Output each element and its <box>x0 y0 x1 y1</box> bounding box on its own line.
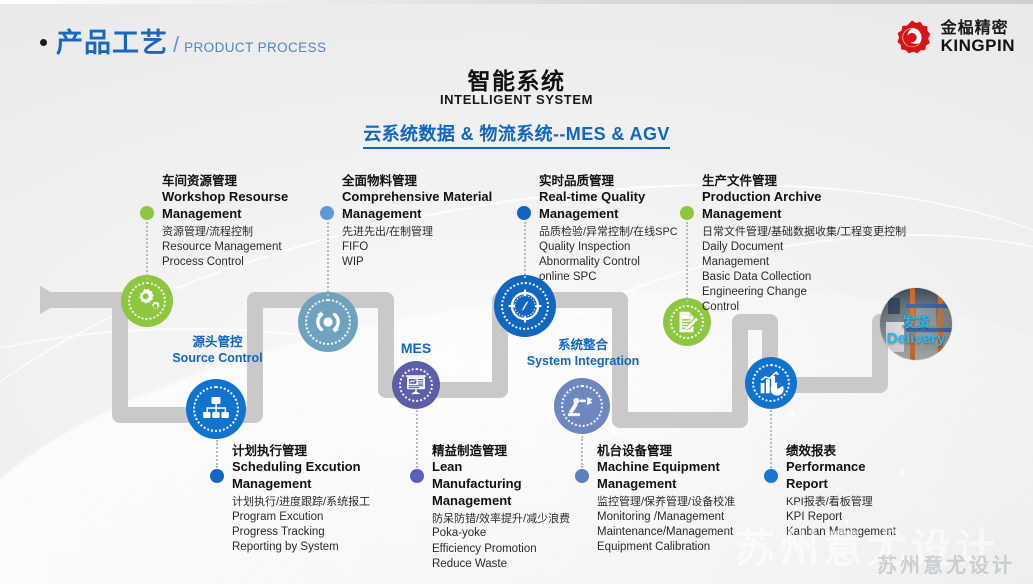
label-title-en-1: Performance <box>786 459 896 476</box>
label-desc-line: Basic Data Collection <box>702 270 906 285</box>
label-title-en-1: Comprehensive Material <box>342 189 492 206</box>
label-desc-line: online SPC <box>539 270 678 285</box>
label-title: 生产文件管理 Production Archive Management <box>702 173 906 223</box>
delivery-caption-cn: 发货 <box>880 314 952 330</box>
label-desc-cn: 计划执行/进度跟踪/系统报工 <box>232 495 370 510</box>
label-title: 精益制造管理 Lean Manufacturing Management <box>432 443 570 510</box>
label-title-en-2: Management <box>232 476 370 493</box>
label-bullet-icon <box>410 469 424 483</box>
mid-caption-system-integration: 系统整合 System Integration <box>508 338 658 369</box>
refresh-cycle-icon <box>311 305 345 339</box>
label-title-en-1: Lean <box>432 459 570 476</box>
label-machine-equipment-management[interactable]: 机台设备管理 Machine Equipment Management 监控管理… <box>575 443 735 555</box>
label-title-en-1: Workshop Resourse <box>162 189 288 206</box>
label-desc-cn: KPI报表/看板管理 <box>786 495 896 510</box>
mid-caption-en: Source Control <box>150 351 285 367</box>
label-title-en-2: Management <box>597 476 735 493</box>
label-bullet-icon <box>210 469 224 483</box>
label-title-en-1: Real-time Quality <box>539 189 678 206</box>
label-title-en-2: Report <box>786 476 896 493</box>
label-title-cn: 车间资源管理 <box>162 173 288 189</box>
label-desc-line: Monitoring /Management <box>597 510 735 525</box>
robot-arm-icon <box>566 390 598 422</box>
label-title-en-1: Production Archive <box>702 189 906 206</box>
label-bullet-icon <box>320 206 334 220</box>
label-title-en-2: Management <box>342 206 492 223</box>
label-bullet-icon <box>680 206 694 220</box>
label-title-cn: 全面物料管理 <box>342 173 492 189</box>
label-comprehensive-material-management[interactable]: 全面物料管理 Comprehensive Material Management… <box>320 173 492 270</box>
label-title-en-2: Management <box>162 206 288 223</box>
mid-caption-cn: 源头管控 <box>150 335 285 351</box>
label-title-cn: 生产文件管理 <box>702 173 906 189</box>
label-lean-manufacturing-management[interactable]: 精益制造管理 Lean Manufacturing Management 防呆防… <box>410 443 570 572</box>
label-desc-cn: 防呆防错/效率提升/减少浪费 <box>432 512 570 527</box>
slide-canvas: 产品工艺 / PRODUCT PROCESS 金榀精密 KINGPIN 智能系统… <box>0 0 1033 584</box>
label-desc: 日常文件管理/基础数据收集/工程变更控制 Daily Document Mana… <box>702 225 906 315</box>
delivery-caption-en: Delivery <box>880 330 952 347</box>
mes-board-node[interactable] <box>392 361 440 409</box>
label-production-archive-management[interactable]: 生产文件管理 Production Archive Management 日常文… <box>680 173 906 315</box>
label-bullet-icon <box>517 206 531 220</box>
label-title: 实时品质管理 Real-time Quality Management <box>539 173 678 223</box>
label-realtime-quality-management[interactable]: 实时品质管理 Real-time Quality Management 品质检验… <box>517 173 678 285</box>
delivery-caption: 发货 Delivery <box>880 314 952 347</box>
label-desc-line: Reduce Waste <box>432 557 570 572</box>
label-desc-line: Process Control <box>162 255 288 270</box>
label-bullet-icon <box>575 469 589 483</box>
label-desc-line: Resource Management <box>162 240 288 255</box>
label-desc-line: Control <box>702 300 906 315</box>
label-desc-cn: 品质检验/异常控制/在线SPC <box>539 225 678 240</box>
label-desc-line: Program Excution <box>232 510 370 525</box>
label-desc: 防呆防错/效率提升/减少浪费 Poka-yoke Efficiency Prom… <box>432 512 570 572</box>
org-chart-icon <box>199 392 233 426</box>
label-desc-cn: 日常文件管理/基础数据收集/工程变更控制 <box>702 225 906 240</box>
label-desc: 监控管理/保养管理/设备校准 Monitoring /Management Ma… <box>597 495 735 555</box>
label-desc-line: WIP <box>342 255 492 270</box>
label-title: 车间资源管理 Workshop Resourse Management <box>162 173 288 223</box>
label-title-cn: 计划执行管理 <box>232 443 370 459</box>
label-desc: 计划执行/进度跟踪/系统报工 Program Excution Progress… <box>232 495 370 555</box>
mid-caption-en: System Integration <box>508 354 658 370</box>
label-scheduling-execution-management[interactable]: 计划执行管理 Scheduling Excution Management 计划… <box>210 443 370 555</box>
label-title-en-1: Scheduling Excution <box>232 459 370 476</box>
label-title-en-3: Management <box>432 493 570 510</box>
label-title-en-2: Manufacturing <box>432 476 570 493</box>
label-desc-line: Progress Tracking <box>232 525 370 540</box>
workshop-gears-node[interactable] <box>121 275 173 327</box>
mid-caption-source-control: 源头管控 Source Control <box>150 335 285 366</box>
source-control-node[interactable] <box>186 379 246 439</box>
label-title: 全面物料管理 Comprehensive Material Management <box>342 173 492 223</box>
mid-caption-en: MES <box>376 340 456 358</box>
presentation-chart-icon <box>402 371 430 399</box>
gears-icon <box>132 286 162 316</box>
label-desc-line: Engineering Change <box>702 285 906 300</box>
label-desc-line: Daily Document <box>702 240 906 255</box>
label-desc-line: Poka-yoke <box>432 526 570 541</box>
label-title-cn: 实时品质管理 <box>539 173 678 189</box>
label-title-en-2: Management <box>539 206 678 223</box>
label-desc: 先进先出/在制管理 FIFO WIP <box>342 225 492 270</box>
label-desc-line: Equipment Calibration <box>597 540 735 555</box>
performance-chart-node[interactable] <box>745 357 797 409</box>
label-title: 绩效报表 Performance Report <box>786 443 896 493</box>
label-title: 机台设备管理 Machine Equipment Management <box>597 443 735 493</box>
label-desc-line: Efficiency Promotion <box>432 542 570 557</box>
label-desc-line: Maintenance/Management <box>597 525 735 540</box>
label-title-cn: 机台设备管理 <box>597 443 735 459</box>
label-title-en-1: Machine Equipment <box>597 459 735 476</box>
bar-pie-chart-icon <box>756 368 786 398</box>
mid-caption-cn: 系统整合 <box>508 338 658 354</box>
label-title: 计划执行管理 Scheduling Excution Management <box>232 443 370 493</box>
label-desc-cn: 资源管理/流程控制 <box>162 225 288 240</box>
label-workshop-resource-management[interactable]: 车间资源管理 Workshop Resourse Management 资源管理… <box>140 173 288 270</box>
label-title-cn: 精益制造管理 <box>432 443 570 459</box>
label-desc-cn: 监控管理/保养管理/设备校准 <box>597 495 735 510</box>
label-bullet-icon <box>140 206 154 220</box>
label-desc: 品质检验/异常控制/在线SPC Quality Inspection Abnor… <box>539 225 678 285</box>
label-desc-line: Quality Inspection <box>539 240 678 255</box>
label-desc: 资源管理/流程控制 Resource Management Process Co… <box>162 225 288 270</box>
label-desc-line: Reporting by System <box>232 540 370 555</box>
compass-icon <box>505 286 545 326</box>
watermark: 苏州意尤设计 <box>877 549 1015 578</box>
label-desc-line: Abnormality Control <box>539 255 678 270</box>
system-integration-node[interactable] <box>554 378 610 434</box>
label-desc-line: Management <box>702 255 906 270</box>
label-title-en-2: Management <box>702 206 906 223</box>
label-desc-line: FIFO <box>342 240 492 255</box>
label-bullet-icon <box>764 469 778 483</box>
material-refresh-node[interactable] <box>298 292 358 352</box>
mid-caption-mes: MES <box>376 340 456 358</box>
label-title-cn: 绩效报表 <box>786 443 896 459</box>
label-desc-cn: 先进先出/在制管理 <box>342 225 492 240</box>
